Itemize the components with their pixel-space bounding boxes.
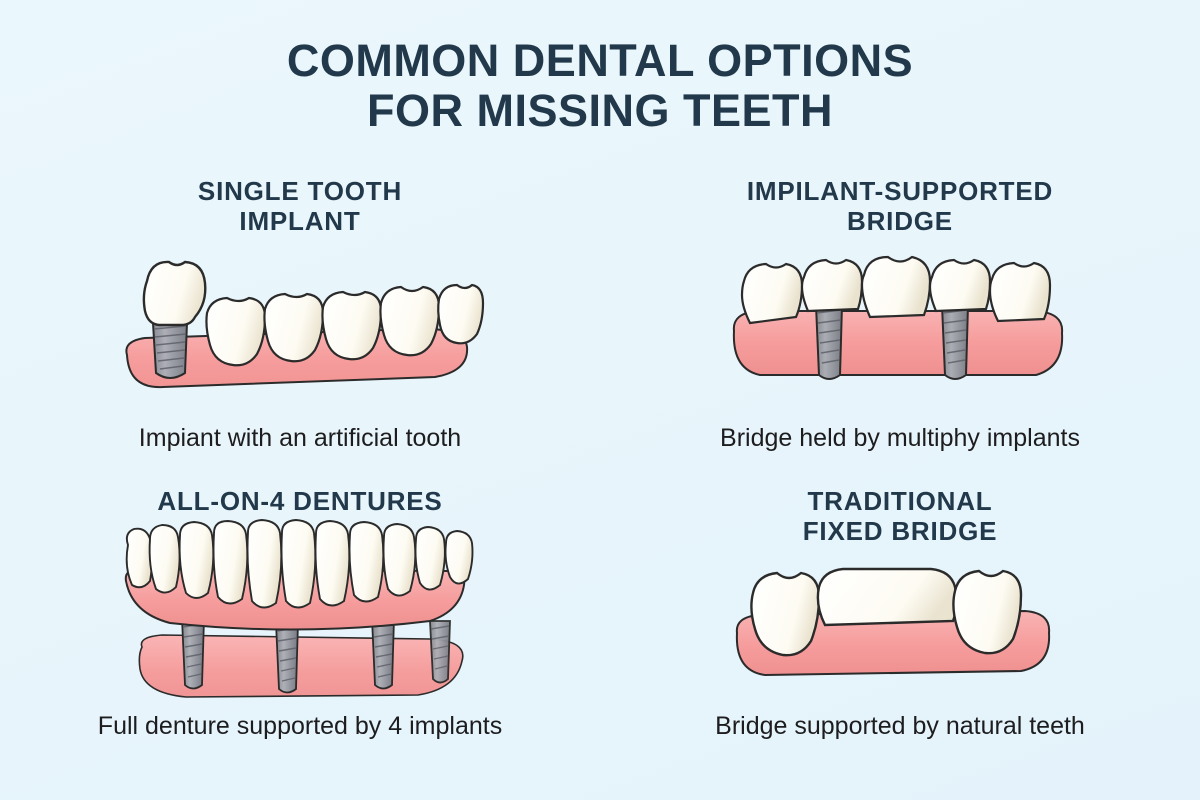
caption-traditional-fixed-bridge: Bridge supported by natural teeth [715, 713, 1085, 741]
tooth [206, 298, 265, 365]
panel-single-tooth-implant: SINGLE TOOTH IMPLANT [0, 158, 600, 470]
page-title-line-2: FOR MISSING TEETH [0, 86, 1200, 136]
implant-screw-1 [182, 619, 204, 689]
tooth-on-implant [802, 260, 862, 311]
panel-title-single-tooth-implant: SINGLE TOOTH IMPLANT [188, 176, 412, 236]
tooth [214, 521, 248, 604]
tooth-on-implant [930, 260, 990, 311]
implant-screw-right [942, 305, 968, 379]
abutment-tooth-left [751, 573, 819, 655]
caption-all-on-4-dentures: Full denture supported by 4 implants [98, 713, 502, 741]
pontic-bridge-span [818, 569, 957, 625]
tooth [127, 529, 152, 588]
tooth [416, 527, 445, 590]
panel-title-line-1: ALL-ON-4 DENTURES [157, 486, 442, 516]
tooth [862, 257, 930, 317]
implant-screw-3 [372, 619, 394, 689]
panel-title-line-1: TRADITIONAL [803, 486, 998, 516]
infographic-page: COMMON DENTAL OPTIONS FOR MISSING TEETH … [0, 0, 1200, 800]
tooth [446, 531, 473, 584]
abutment-tooth-right [953, 571, 1021, 653]
tooth [742, 264, 802, 323]
options-grid: SINGLE TOOTH IMPLANT [0, 158, 1200, 788]
implant-screw [153, 323, 187, 378]
tooth [264, 294, 323, 361]
tooth [380, 287, 439, 355]
single-tooth-implant-illustration [0, 236, 600, 424]
all-on-4-dentures-svg [100, 519, 500, 709]
tooth [322, 292, 381, 359]
tooth [350, 522, 384, 602]
panel-title-line-2: IMPLANT [198, 206, 402, 236]
implant-crown-tooth [144, 262, 205, 325]
page-title: COMMON DENTAL OPTIONS FOR MISSING TEETH [0, 0, 1200, 137]
panel-title-line-1: IMPILANT-SUPPORTED [747, 176, 1053, 206]
implant-screw-2 [276, 623, 298, 693]
implant-screw-left [816, 305, 842, 379]
panel-title-line-1: SINGLE TOOTH [198, 176, 402, 206]
panel-title-implant-supported-bridge: IMPILANT-SUPPORTED BRIDGE [737, 176, 1063, 236]
implant-screw-4 [430, 621, 450, 683]
caption-implant-supported-bridge: Bridge held by multiphy implants [720, 425, 1080, 453]
panel-title-traditional-fixed-bridge: TRADITIONAL FIXED BRIDGE [793, 486, 1008, 546]
page-title-line-1: COMMON DENTAL OPTIONS [0, 36, 1200, 86]
implant-supported-bridge-illustration [600, 236, 1200, 424]
tooth [384, 524, 416, 596]
traditional-fixed-bridge-illustration [600, 546, 1200, 712]
tooth [150, 525, 180, 593]
tooth [990, 263, 1050, 321]
tooth [282, 520, 316, 608]
panel-title-all-on-4-dentures: ALL-ON-4 DENTURES [147, 486, 452, 516]
tooth [180, 522, 214, 598]
all-on-4-dentures-illustration [0, 516, 600, 712]
caption-single-tooth-implant: Impiant with an artificial tooth [139, 425, 461, 453]
implant-supported-bridge-svg [720, 255, 1080, 405]
panel-all-on-4-dentures: ALL-ON-4 DENTURES [0, 470, 600, 770]
traditional-fixed-bridge-svg [725, 559, 1075, 699]
panel-traditional-fixed-bridge: TRADITIONAL FIXED BRIDGE [600, 470, 1200, 770]
single-tooth-implant-svg [115, 255, 485, 405]
panel-title-line-2: FIXED BRIDGE [803, 516, 998, 546]
tooth [248, 520, 282, 608]
panel-implant-supported-bridge: IMPILANT-SUPPORTED BRIDGE [600, 158, 1200, 470]
bridge-teeth-row [742, 257, 1050, 323]
tooth [316, 521, 350, 606]
panel-title-line-2: BRIDGE [747, 206, 1053, 236]
tooth [438, 285, 483, 343]
